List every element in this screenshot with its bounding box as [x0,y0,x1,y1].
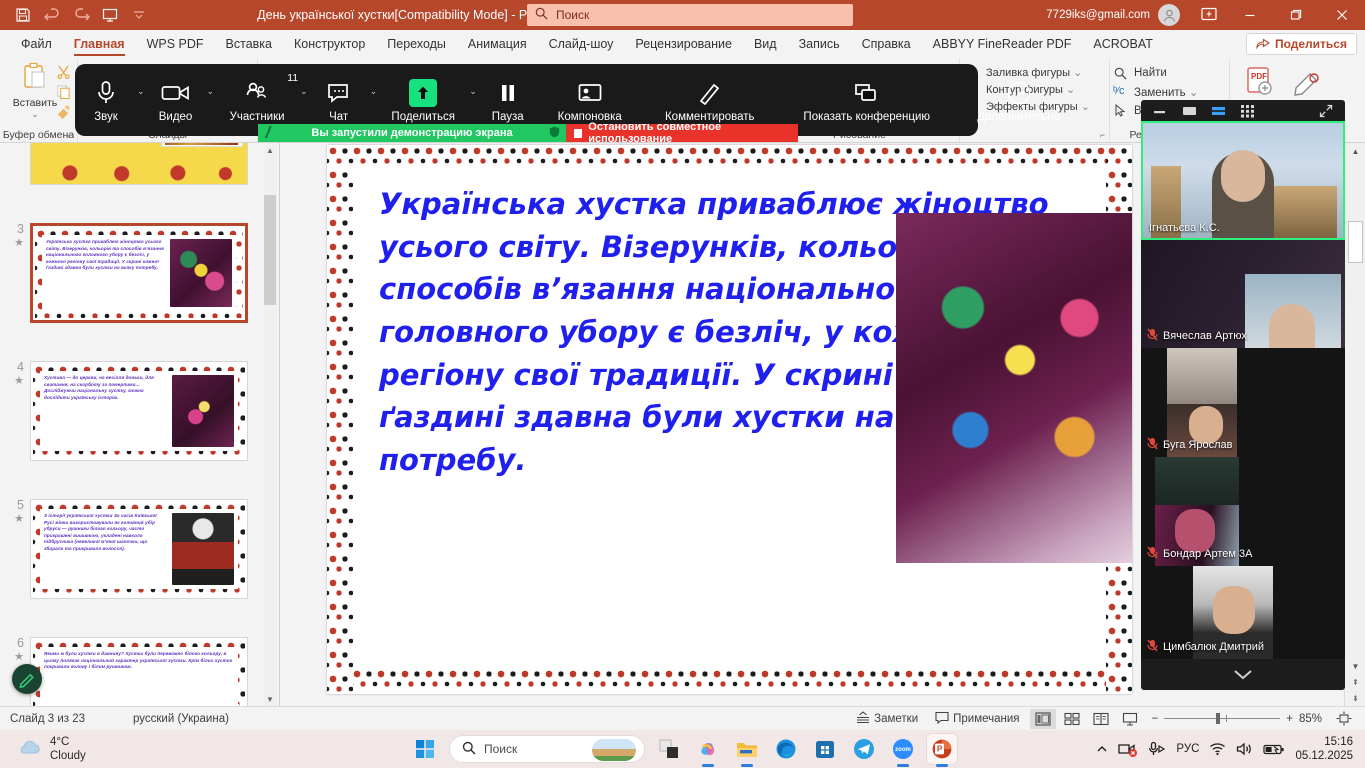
clipboard-group-label: Буфер обмена [0,129,77,141]
svg-text:P: P [937,745,943,754]
slide-thumbnail-selected[interactable]: Українська хустка приваблює жіноцтво усь… [30,223,248,323]
tab-transitions[interactable]: Переходы [376,33,457,55]
mic-muted-icon [1147,546,1158,562]
tab-acrobat[interactable]: ACROBAT [1082,33,1164,55]
mic-muted-icon [1147,437,1158,453]
tab-view[interactable]: Вид [743,33,788,55]
participant-name: Ігнатьєва К.С. [1149,222,1220,234]
minimize-button[interactable] [1227,0,1273,30]
zoom-center-tick [1226,715,1227,722]
chat-bubble-icon [326,77,352,109]
thumbnail-image [170,239,232,307]
paste-label: Вставить [12,97,58,109]
participants-count-badge: 11 [287,72,298,84]
cursor-arrow-icon [1115,104,1126,120]
scroll-up-arrow-icon[interactable]: ▲ [1348,143,1363,159]
minimize-icon[interactable] [1153,106,1169,116]
participant-tile[interactable]: Цимбалюк Дмитрий [1141,566,1345,659]
slide-thumbnail[interactable] [30,143,248,185]
slide-counter[interactable]: Слайд 3 из 23 [0,713,85,725]
participant-name: Бондар Артем 3А [1147,546,1252,562]
powerpoint-icon[interactable]: P [927,734,957,764]
normal-view-icon[interactable] [1030,709,1056,729]
zoom-out-button[interactable]: − [1152,713,1159,725]
slide-thumbnail[interactable]: Якими ж були хустки в давнину? Хустки бу… [30,637,248,706]
slide-thumbnail[interactable]: Хустина — до церкви, на весілля доньки, … [30,361,248,461]
search-placeholder: Поиск [556,8,589,22]
share-button-label: Поделиться [1275,37,1347,51]
zoom-track[interactable] [1164,718,1280,719]
list-item[interactable]: 5 ★ З історії української хустки За часі… [0,499,262,599]
weather-temp: 4°C [50,735,86,749]
screen-share-wave-icon [264,126,275,141]
restore-button[interactable] [1273,0,1319,30]
more-dots-icon [1006,77,1032,109]
language-indicator-tray[interactable]: РУС [1176,743,1199,755]
animation-star-icon: ★ [0,513,24,525]
notes-icon [856,711,870,727]
thumbnail-content: Якими ж були хустки в давнину? Хустки бу… [40,647,238,706]
share-button[interactable]: Поделиться [1246,33,1357,55]
zoom-audio-caret-icon[interactable]: ⌄ [137,64,145,136]
stop-sharing-button[interactable]: Остановить совместное использование [566,124,798,142]
slide-thumbnail-panel[interactable]: 2 3 ★ Українська хустка приваблює жіноцт… [0,143,280,706]
start-button-icon[interactable] [410,734,440,764]
zoom-more-button[interactable]: Дополнительно [955,64,1083,136]
system-tray: РУС 15:16 05.12.2025 [1096,735,1365,764]
share-icon [1256,37,1270,52]
zoom-icon[interactable]: zoom [888,734,918,764]
tab-abbyy[interactable]: ABBYY FineReader PDF [922,33,1083,55]
zoom-participants-label: Участники [230,111,285,123]
sharing-text: Вы запустили демонстрацию экрана [281,127,543,139]
create-pdf-icon[interactable]: PDF [1244,66,1278,103]
windows-taskbar: 4°C Cloudy Поиск [0,730,1365,768]
list-item[interactable]: 3 ★ Українська хустка приваблює жіноцтво… [0,223,262,323]
taskbar-search-input[interactable]: Поиск [449,735,645,763]
window-controls [1227,0,1365,30]
replace-icon: ᵇ⁄c [1113,85,1125,97]
notes-label: Заметки [874,713,918,725]
zoom-in-button[interactable]: + [1286,713,1293,725]
zoom-audio-label: Звук [94,111,118,123]
clipboard-dialog-launcher[interactable]: ⌐ [68,130,73,140]
wifi-icon[interactable] [1209,742,1226,756]
comments-label: Примечания [953,713,1019,725]
slide-image-khustka[interactable] [896,213,1132,563]
zoom-chat-label: Чат [329,111,348,123]
fit-slide-icon[interactable] [1331,709,1357,729]
clock-time: 15:16 [1295,735,1353,749]
title-bar: День української хустки[Compatibility Mo… [0,0,1365,30]
expand-icon[interactable] [1319,104,1333,118]
shape-dialog-launcher[interactable]: ⌐ [1100,130,1105,140]
microphone-tray-icon[interactable] [1148,741,1166,757]
list-item[interactable]: 2 [0,143,262,185]
zoom-share-label: Поделиться [391,111,455,123]
cut-icon[interactable] [56,64,71,82]
participant-tile[interactable]: Бондар Артем 3А [1141,457,1345,566]
participant-tile[interactable]: Буга Ярослав [1141,348,1345,457]
taskbar-apps: Поиск zoom P [410,734,957,764]
thumbnail-number: 3 ★ [0,223,30,323]
ribbon-group-clipboard: Вставить ⌄ Буфер обмена ⌐ [0,58,78,143]
thumbnail-text: З історії української хустки За часів Ки… [44,513,168,585]
start-slideshow-icon[interactable] [100,5,120,25]
zoom-more-label: Дополнительно [977,111,1060,123]
clock[interactable]: 15:16 05.12.2025 [1295,735,1353,764]
animation-star-icon: ★ [0,651,24,663]
thumbnail-image [172,375,234,447]
animation-star-icon: ★ [0,375,24,387]
microsoft-store-icon[interactable] [810,734,840,764]
find-button[interactable]: Найти [1110,64,1229,82]
zoom-knob[interactable] [1216,713,1220,724]
stop-square-icon [574,129,582,138]
zoom-video-caret-icon[interactable]: ⌄ [207,64,215,136]
annotate-pen-floating-button[interactable] [12,664,42,694]
search-icon [462,741,476,758]
screen-share-status-bar: Вы запустили демонстрацию экрана Останов… [258,124,798,142]
tab-record[interactable]: Запись [788,33,851,55]
zoom-video-button[interactable]: Видео [145,64,207,136]
avatar[interactable] [1158,4,1180,26]
weather-desc: Cloudy [50,749,86,763]
volume-icon[interactable] [1236,742,1253,756]
video-panel-header [1141,100,1345,121]
layout-icon [577,77,603,109]
stop-sharing-label: Остановить совместное использование [588,121,790,145]
close-button[interactable] [1319,0,1365,30]
account-area[interactable]: 7729iks@gmail.com [1046,4,1180,26]
reading-view-icon[interactable] [1088,709,1114,729]
scrollbar-thumb[interactable] [264,195,276,305]
copy-icon[interactable] [56,84,71,102]
thumbnail-content: Хустина — до церкви, на весілля доньки, … [40,371,238,451]
tab-design[interactable]: Конструктор [283,33,376,55]
thumbnail-content: Українська хустка приваблює жіноцтво усь… [42,235,236,311]
grid-view-icon[interactable] [1240,104,1256,118]
weather-widget[interactable]: 4°C Cloudy [0,735,86,764]
notes-button[interactable]: Заметки [849,709,925,729]
microphone-icon [95,77,117,109]
cloud-icon [16,739,42,760]
mic-muted-icon [1147,639,1158,655]
pause-icon [498,77,518,109]
search-icon [535,7,548,23]
zoom-audio-button[interactable]: Звук [75,64,137,136]
zoom-video-label: Видео [159,111,193,123]
svg-text:zoom: zoom [895,747,911,753]
speaker-view-icon[interactable] [1182,105,1198,117]
status-bar: Слайд 3 из 23 русский (Украина) Заметки … [0,706,1365,730]
status-bar-right: Заметки Примечания − + 85% [849,709,1365,729]
undo-icon[interactable] [42,5,62,25]
current-slide[interactable]: Українська хустка приваблює жіноцтво усь… [327,145,1132,694]
thumbnail-number: 2 [0,143,30,185]
ribbon-tabs: Файл Главная WPS PDF Вставка Конструктор… [0,30,1365,58]
language-indicator[interactable]: русский (Украина) [85,713,229,725]
show-meeting-icon [852,77,882,109]
tab-help[interactable]: Справка [851,33,922,55]
previous-slide-button[interactable]: ⇞ [1348,674,1363,690]
participant-tile[interactable]: Ігнатьєва К.С. [1141,121,1345,239]
participant-name: Цимбалюк Дмитрий [1147,639,1264,655]
camera-off-icon[interactable] [1118,741,1138,757]
thumbnail-text: Хустина — до церкви, на весілля доньки, … [44,375,168,447]
comment-bubble-icon [935,711,949,727]
tab-file[interactable]: Файл [10,33,63,55]
thumbnail-image [172,513,234,585]
camera-icon [161,77,191,109]
scroll-down-arrow-icon[interactable]: ▼ [1348,658,1363,674]
thumbnail-text: Якими ж були хустки в давнину? Хустки бу… [44,651,234,706]
zoom-show-meeting-button[interactable]: Показать конференцию [779,64,955,136]
annotate-pencil-icon [698,77,722,109]
sharing-indicator: Вы запустили демонстрацию экрана [258,124,566,142]
ribbon-display-options-icon[interactable] [1201,7,1217,24]
paste-button[interactable]: Вставить ⌄ [12,62,58,120]
taskbar-search-placeholder: Поиск [484,742,517,756]
zoom-level-label[interactable]: 85% [1299,713,1322,725]
slide-thumbnail[interactable]: З історії української хустки За часів Ки… [30,499,248,599]
format-painter-icon[interactable] [56,104,71,122]
slideshow-icon[interactable] [1117,709,1143,729]
customize-qat-icon[interactable] [129,5,149,25]
zoom-pause-label: Пауза [492,111,524,123]
participant-name: Буга Ярослав [1147,437,1232,453]
thumbnail-number: 5 ★ [0,499,30,599]
replace-button[interactable]: ᵇ⁄c Заменить ⌄ [1110,82,1229,102]
thumbnail-scrollbar[interactable]: ▲ ▼ [263,143,277,706]
thumbnail-text: Українська хустка приваблює жіноцтво усь… [46,239,166,307]
tray-chevron-icon[interactable] [1096,744,1108,754]
comments-button[interactable]: Примечания [928,709,1026,729]
gallery-strip-icon[interactable] [1211,105,1227,117]
clock-date: 05.12.2025 [1295,749,1353,763]
redo-icon[interactable] [71,5,91,25]
share-screen-icon [409,77,437,109]
zoom-slider[interactable]: − + 85% [1146,713,1328,725]
search-small-icon [1114,67,1127,83]
quick-access-toolbar [0,5,149,25]
scrollbar-thumb[interactable] [1348,221,1363,263]
file-explorer-icon[interactable] [732,734,762,764]
next-slide-button[interactable]: ⇟ [1348,690,1363,706]
telegram-icon[interactable] [849,734,879,764]
tab-home[interactable]: Главная [63,33,136,55]
video-panel-scroll-down-icon[interactable] [1141,659,1345,690]
tab-wps-pdf[interactable]: WPS PDF [136,33,215,55]
edge-icon[interactable] [771,734,801,764]
slide-sorter-icon[interactable] [1059,709,1085,729]
participants-icon [244,77,270,109]
animation-star-icon: ★ [0,237,24,249]
scroll-up-arrow-icon[interactable]: ▲ [264,143,276,157]
thumbnail-number: 4 ★ [0,361,30,461]
tab-slideshow[interactable]: Слайд-шоу [538,33,625,55]
participant-tile[interactable]: Вячеслав Артюх [1141,240,1345,349]
tab-review[interactable]: Рецензирование [624,33,743,55]
save-icon[interactable] [13,5,33,25]
weather-text: 4°C Cloudy [50,735,86,764]
tab-animations[interactable]: Анимация [457,33,538,55]
slide-area-scrollbar[interactable]: ▲ ▼ ⇞ ⇟ [1344,143,1365,706]
copilot-icon[interactable] [693,734,723,764]
battery-icon[interactable] [1263,743,1285,756]
scroll-down-arrow-icon[interactable]: ▼ [264,692,276,706]
security-shield-icon[interactable] [549,126,560,141]
mic-muted-icon [1147,328,1158,344]
participant-video-panel[interactable]: Ігнатьєва К.С. Вячеслав Артюх Буга Яросл… [1141,100,1345,690]
taskview-icon[interactable] [654,734,684,764]
list-item[interactable]: 4 ★ Хустина — до церкви, на весілля донь… [0,361,262,461]
account-email: 7729iks@gmail.com [1046,9,1150,21]
svg-text:PDF: PDF [1251,72,1267,81]
zoom-show-meeting-label: Показать конференцию [803,111,930,123]
tab-insert[interactable]: Вставка [215,33,283,55]
search-highlight-image [592,739,636,761]
search-input[interactable]: Поиск [527,4,853,26]
participant-name: Вячеслав Артюх [1147,328,1247,344]
thumbnail-content: З історії української хустки За часів Ки… [40,509,238,589]
sign-icon[interactable] [1292,66,1326,103]
